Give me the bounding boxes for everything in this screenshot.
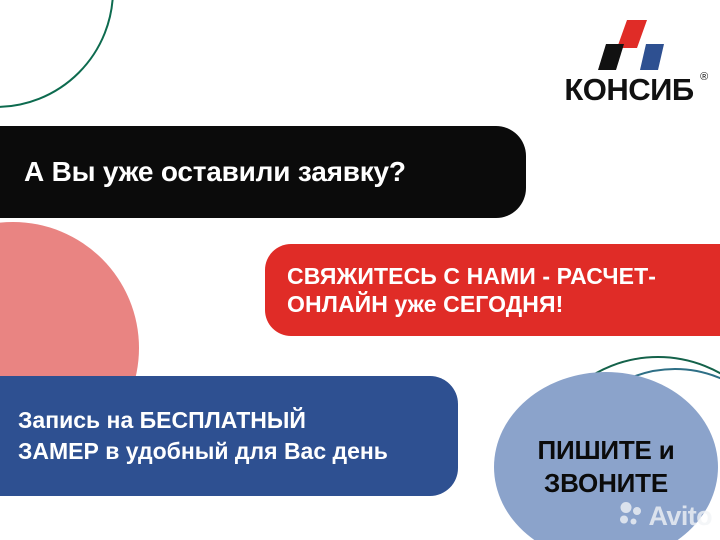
banner-free-measurement: Запись на БЕСПЛАТНЫЙ ЗАМЕР в удобный для…: [0, 376, 458, 496]
banner-question-text: А Вы уже оставили заявку?: [24, 157, 526, 188]
banner-free-measurement-line-1: Запись на БЕСПЛАТНЫЙ: [18, 405, 458, 436]
registered-trademark-icon: ®: [700, 72, 708, 83]
brand-logo: КОНСИБ ®: [556, 18, 706, 105]
ad-banner-canvas: КОНСИБ ® А Вы уже оставили заявку? СВЯЖИ…: [0, 0, 720, 540]
call-to-action-line-1: ПИШИТЕ и: [537, 434, 674, 467]
banner-question: А Вы уже оставили заявку?: [0, 126, 526, 218]
logo-wordmark: КОНСИБ ®: [564, 74, 697, 105]
call-to-action-line-2: ЗВОНИТЕ: [544, 467, 668, 500]
banner-free-measurement-line-2: ЗАМЕР в удобный для Вас день: [18, 436, 458, 467]
logo-mark-icon: [556, 18, 706, 74]
logo-wordmark-text: КОНСИБ: [564, 72, 693, 107]
call-to-action-circle: ПИШИТЕ и ЗВОНИТЕ: [494, 372, 718, 540]
banner-contact: СВЯЖИТЕСЬ С НАМИ - РАСЧЕТ- ОНЛАЙН уже СЕ…: [265, 244, 720, 336]
banner-contact-line-1: СВЯЖИТЕСЬ С НАМИ - РАСЧЕТ-: [287, 262, 656, 290]
decorative-green-ring-top-left: [0, 0, 114, 108]
banner-contact-line-2: ОНЛАЙН уже СЕГОДНЯ!: [287, 290, 563, 318]
